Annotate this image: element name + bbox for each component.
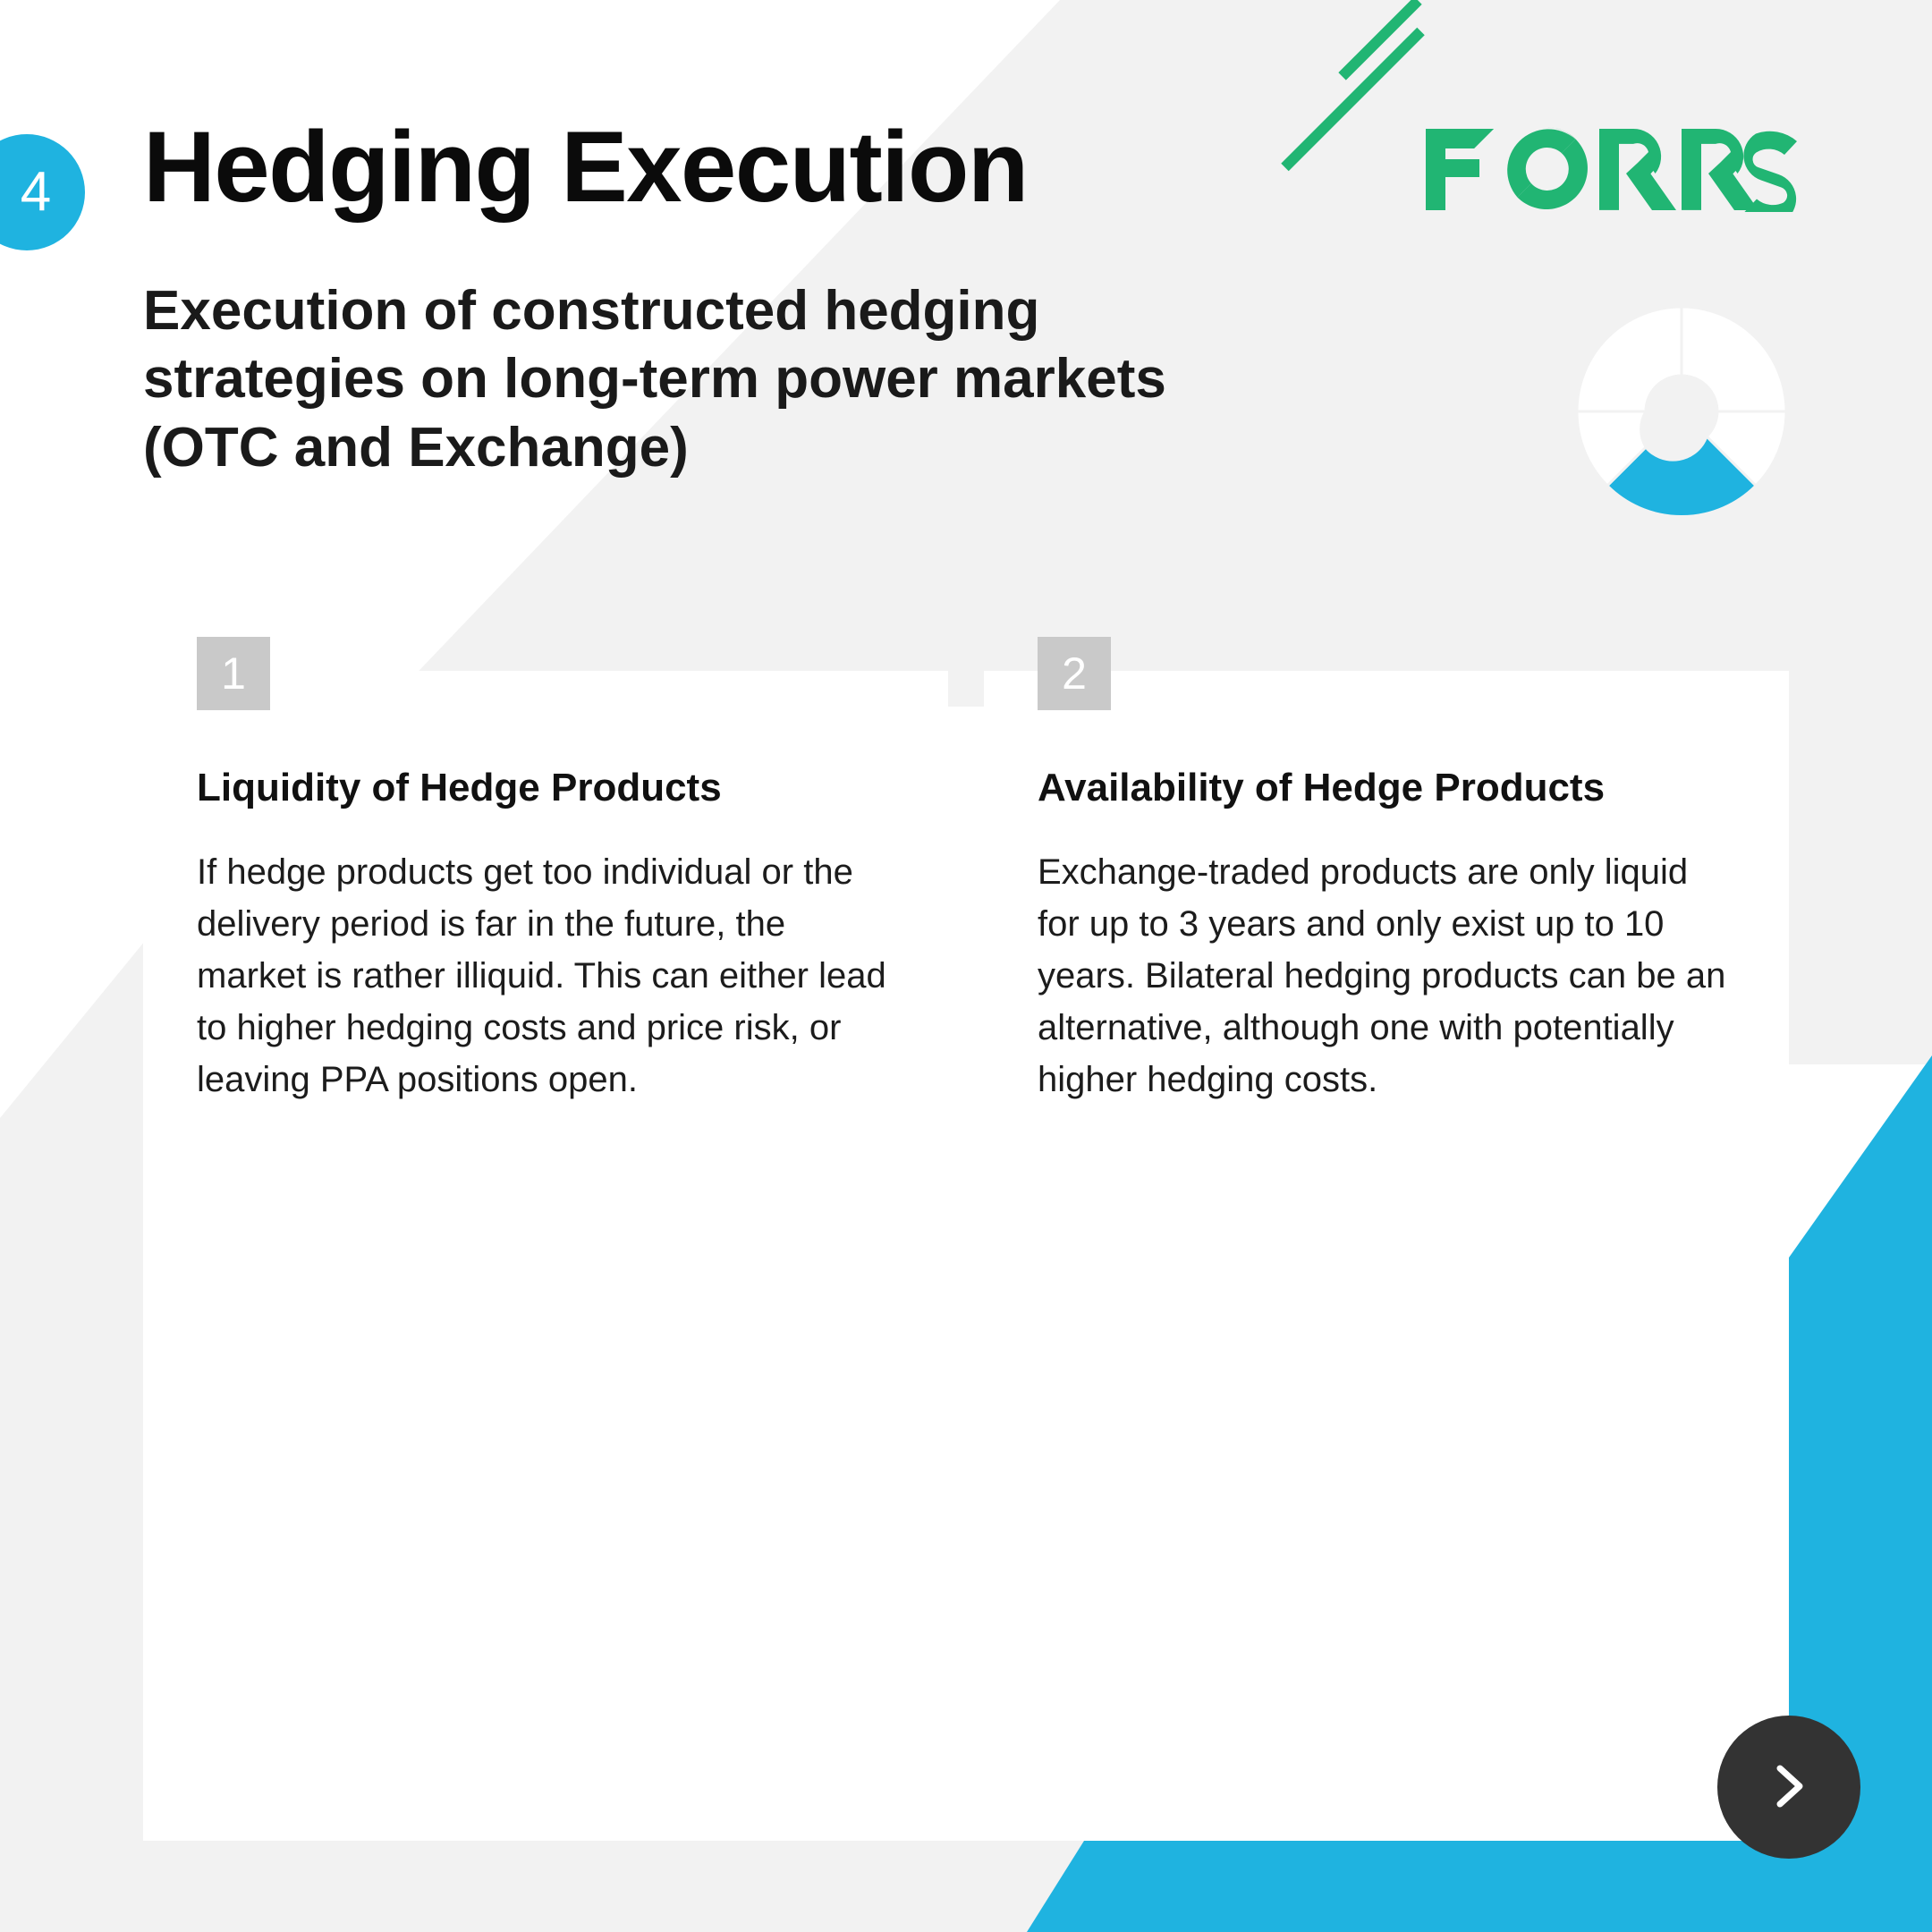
info-card-1: 1 Liquidity of Hedge Products If hedge p… — [143, 671, 948, 1841]
card-heading-1: Liquidity of Hedge Products — [197, 765, 894, 812]
forrs-logo — [1424, 118, 1800, 212]
card-number-badge-2: 2 — [1038, 637, 1111, 710]
card-heading-2: Availability of Hedge Products — [1038, 765, 1735, 812]
green-slash-short-icon — [1338, 0, 1421, 80]
card-body-2: Availability of Hedge Products Exchange-… — [984, 671, 1789, 1106]
chevron-right-icon — [1762, 1759, 1816, 1816]
card-number-label-1: 1 — [221, 651, 246, 696]
green-slash-long-icon — [1281, 28, 1425, 172]
card-text-2: Exchange-traded products are only liquid… — [1038, 846, 1735, 1106]
card-text-1: If hedge products get too individual or … — [197, 846, 894, 1106]
next-slide-button[interactable] — [1717, 1716, 1860, 1859]
card-number-badge-1: 1 — [197, 637, 270, 710]
section-number-label: 4 — [3, 165, 51, 220]
card-body-1: Liquidity of Hedge Products If hedge pro… — [143, 671, 948, 1106]
donut-chart-graphic — [1570, 300, 1793, 523]
card-number-label-2: 2 — [1062, 651, 1087, 696]
slide-canvas: 4 Hedging Execution Execution of constru… — [0, 0, 1932, 1932]
page-subtitle: Execution of constructed hedging strateg… — [143, 277, 1199, 482]
info-card-2: 2 Availability of Hedge Products Exchang… — [984, 671, 1789, 1841]
grey-diagonal-left-shape — [0, 921, 161, 1932]
page-title: Hedging Execution — [143, 114, 1028, 220]
section-number-badge: 4 — [0, 134, 85, 250]
grey-bottom-fill-shape — [0, 1841, 1932, 1932]
